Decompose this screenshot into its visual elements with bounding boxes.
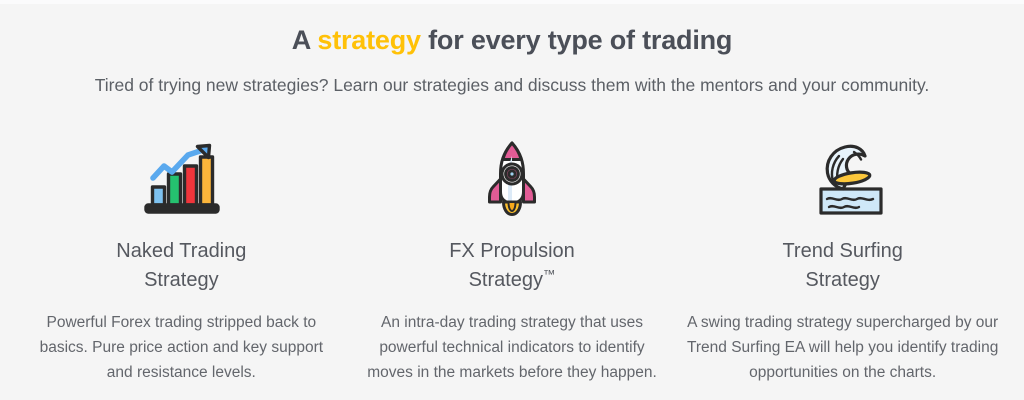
strategy-card-title: Naked TradingStrategy (116, 217, 246, 294)
page-subtitle: Tired of trying new strategies? Learn ou… (0, 56, 1024, 97)
wave-surfing-icon (799, 139, 887, 217)
strategy-card-description: A swing trading strategy supercharged by… (687, 294, 999, 385)
page-title-highlight: strategy (317, 25, 420, 55)
strategy-card-naked-trading[interactable]: Naked TradingStrategy Powerful Forex tra… (16, 139, 347, 385)
strategy-section: A strategy for every type of trading Tir… (0, 0, 1024, 400)
strategy-card-description: Powerful Forex trading stripped back to … (31, 294, 331, 385)
bar-chart-growth-icon (140, 139, 222, 217)
strategy-card-title-line2: Strategy (805, 269, 879, 291)
strategy-card-title-line1: FX Propulsion (449, 240, 575, 262)
strategy-card-trend-surfing[interactable]: Trend SurfingStrategy A swing trading st… (677, 139, 1008, 385)
top-edge-band (0, 0, 1024, 4)
strategy-card-title: FX PropulsionStrategy™ (449, 217, 575, 294)
trademark-symbol: ™ (543, 267, 555, 281)
page-title: A strategy for every type of trading (0, 0, 1024, 56)
strategy-card-list: Naked TradingStrategy Powerful Forex tra… (0, 139, 1024, 385)
rocket-icon (481, 139, 543, 217)
page-title-after: for every type of trading (421, 25, 732, 55)
page-title-before: A (292, 25, 318, 55)
strategy-card-title-line2: Strategy (469, 269, 543, 291)
strategy-card-description: An intra-day trading strategy that uses … (359, 294, 665, 385)
strategy-card-title-line1: Naked Trading (116, 240, 246, 262)
strategy-card-fx-propulsion[interactable]: FX PropulsionStrategy™ An intra-day trad… (347, 139, 678, 385)
strategy-card-title-line2: Strategy (144, 269, 218, 291)
strategy-card-title-line1: Trend Surfing (782, 240, 902, 262)
strategy-card-title: Trend SurfingStrategy (782, 217, 902, 294)
